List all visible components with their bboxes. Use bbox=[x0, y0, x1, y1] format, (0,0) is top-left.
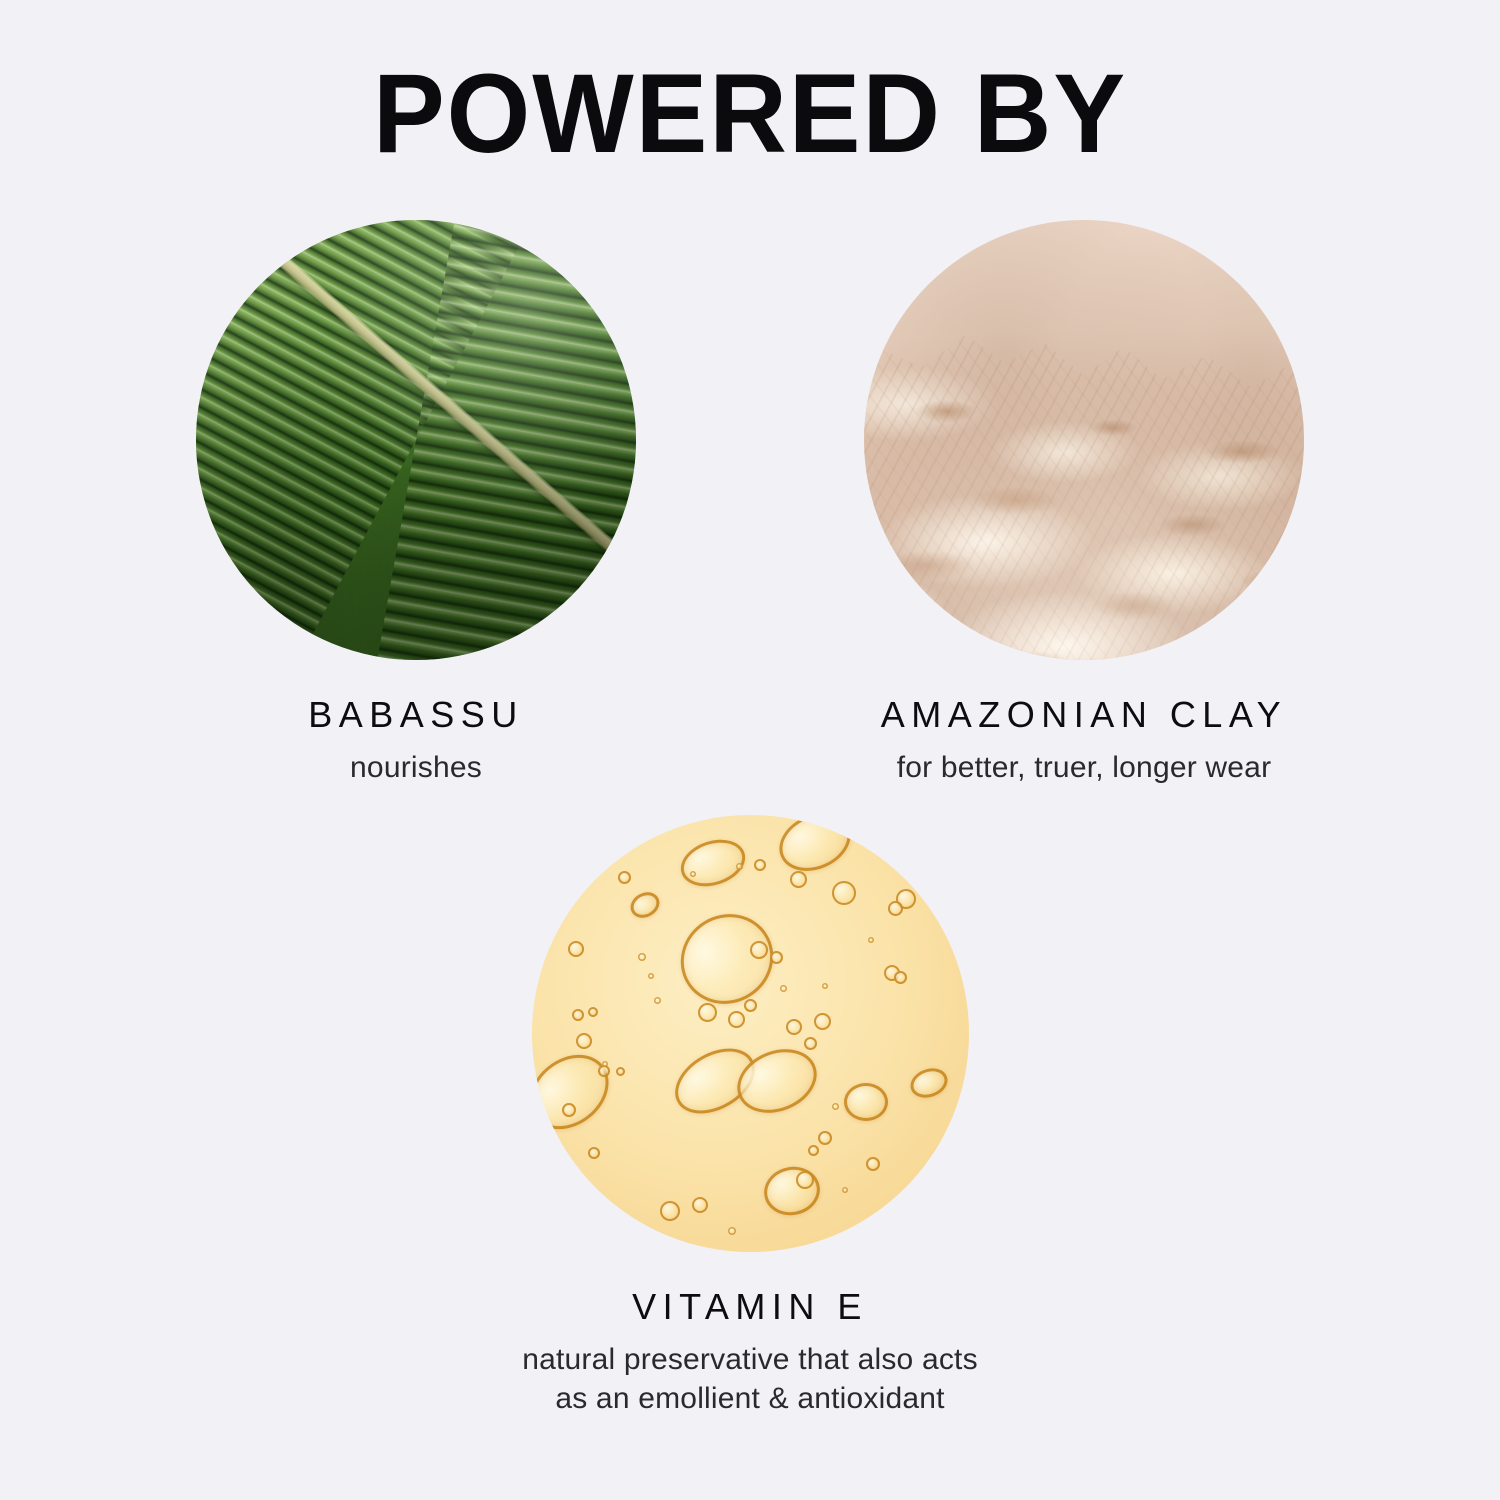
infographic-page: POWERED BY BABASSU nourishes AMAZONIAN C… bbox=[0, 0, 1500, 1500]
vitamin-e-name: VITAMIN E bbox=[334, 1286, 1166, 1328]
oil-bubble bbox=[844, 1083, 888, 1121]
oil-bubble bbox=[842, 1187, 848, 1193]
amazonian-clay-name: AMAZONIAN CLAY bbox=[668, 694, 1500, 736]
oil-bubble bbox=[866, 1157, 880, 1171]
oil-bubble bbox=[796, 1171, 814, 1189]
oil-bubble bbox=[728, 1227, 736, 1235]
ingredient-card-vitamin-e: VITAMIN E natural preservative that also… bbox=[334, 815, 1166, 1418]
oil-bubble bbox=[698, 1003, 717, 1022]
oil-bubble bbox=[638, 953, 646, 961]
oil-bubble bbox=[736, 863, 743, 870]
oil-bubble bbox=[576, 1033, 592, 1049]
oil-bubble bbox=[616, 1067, 625, 1076]
oil-bubble bbox=[728, 1011, 745, 1028]
oil-bubble bbox=[894, 971, 907, 984]
oil-bubble bbox=[562, 1103, 576, 1117]
oil-bubble bbox=[588, 1007, 598, 1017]
vitamin-e-description-line-2: as an emollient & antioxidant bbox=[334, 1379, 1166, 1418]
oil-bubble bbox=[790, 871, 807, 888]
oil-bubble bbox=[692, 1197, 708, 1213]
oil-bubble bbox=[808, 1145, 819, 1156]
oil-bubble bbox=[804, 1037, 817, 1050]
oil-bubble bbox=[770, 951, 783, 964]
oil-bubble bbox=[888, 901, 903, 916]
oil-bubble bbox=[786, 1019, 802, 1035]
oil-bubble bbox=[780, 985, 787, 992]
amazonian-clay-description: for better, truer, longer wear bbox=[668, 748, 1500, 787]
oil-bubble bbox=[654, 997, 661, 1004]
oil-bubble bbox=[660, 1201, 680, 1221]
oil-bubble bbox=[832, 881, 856, 905]
clay-shading bbox=[864, 220, 1304, 660]
oil-bubble bbox=[618, 871, 631, 884]
oil-bubble bbox=[648, 973, 654, 979]
oil-bubble bbox=[750, 941, 768, 959]
babassu-image bbox=[196, 220, 636, 660]
palm-frond-shading bbox=[196, 220, 636, 660]
oil-bubble bbox=[818, 1131, 832, 1145]
oil-bubble bbox=[744, 999, 757, 1012]
oil-bubble bbox=[814, 1013, 831, 1030]
oil-bubble bbox=[602, 1061, 608, 1067]
oil-bubble bbox=[822, 983, 828, 989]
oil-bubble bbox=[754, 859, 766, 871]
vitamin-e-description-line-1: natural preservative that also acts bbox=[334, 1340, 1166, 1379]
oil-base bbox=[532, 815, 969, 1252]
amazonian-clay-image bbox=[864, 220, 1304, 660]
oil-bubble bbox=[868, 937, 874, 943]
oil-bubble bbox=[832, 1103, 839, 1110]
oil-bubble bbox=[572, 1009, 584, 1021]
ingredient-card-amazonian-clay: AMAZONIAN CLAY for better, truer, longer… bbox=[668, 220, 1500, 787]
vitamin-e-image bbox=[532, 815, 969, 1252]
oil-bubble bbox=[690, 871, 696, 877]
page-title: POWERED BY bbox=[30, 58, 1470, 170]
oil-bubble bbox=[588, 1147, 600, 1159]
oil-bubble bbox=[568, 941, 584, 957]
